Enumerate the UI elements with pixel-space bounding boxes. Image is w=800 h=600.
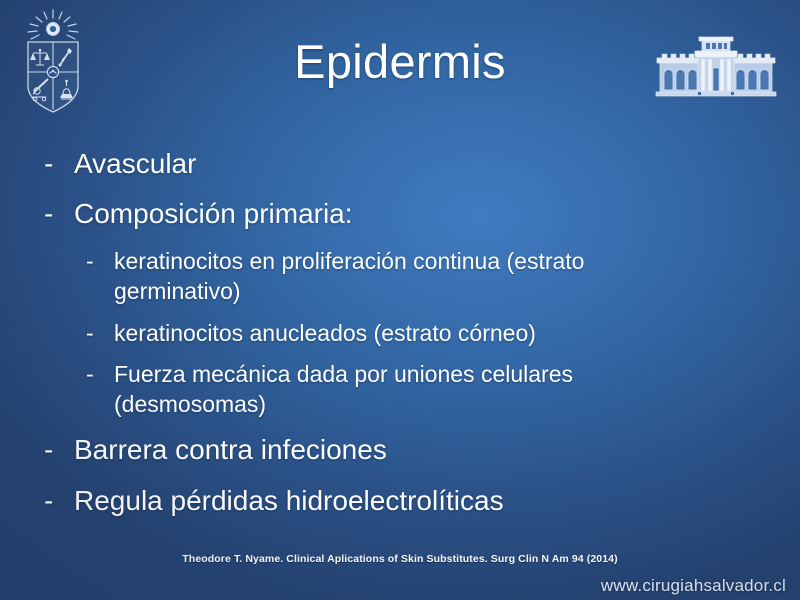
bullet-text: keratinocitos en proliferación continua …: [114, 247, 634, 307]
presentation-slide: Epidermis - Avascular - Composición prim…: [0, 0, 800, 600]
bullet-item: - Composición primaria:: [0, 196, 800, 232]
bullet-dash: -: [44, 483, 74, 519]
bullet-dash: -: [44, 146, 74, 182]
bullet-text: keratinocitos anucleados (estrato córneo…: [114, 319, 536, 349]
bullet-item: - Regula pérdidas hidroelectrolíticas: [0, 483, 800, 519]
sub-bullet-item: - keratinocitos en proliferación continu…: [0, 247, 800, 307]
website-url: www.cirugiahsalvador.cl: [601, 576, 786, 596]
bullet-text: Regula pérdidas hidroelectrolíticas: [74, 483, 504, 519]
bullet-item: - Barrera contra infeciones: [0, 432, 800, 468]
bullet-dash: -: [44, 432, 74, 468]
sub-bullet-item: - keratinocitos anucleados (estrato córn…: [0, 319, 800, 349]
bullet-dash: -: [86, 319, 114, 349]
bullet-text: Barrera contra infeciones: [74, 432, 387, 468]
sub-bullet-group: - keratinocitos en proliferación continu…: [0, 247, 800, 420]
slide-title: Epidermis: [0, 36, 800, 88]
slide-body: - Avascular - Composición primaria: - ke…: [0, 146, 800, 533]
bullet-text: Fuerza mecánica dada por uniones celular…: [114, 360, 634, 420]
sub-bullet-item: - Fuerza mecánica dada por uniones celul…: [0, 360, 800, 420]
bullet-dash: -: [86, 247, 114, 277]
bullet-item: - Avascular: [0, 146, 800, 182]
bullet-dash: -: [86, 360, 114, 390]
bullet-dash: -: [44, 196, 74, 232]
source-citation: Theodore T. Nyame. Clinical Aplications …: [0, 553, 800, 565]
bullet-text: Avascular: [74, 146, 196, 182]
bullet-text: Composición primaria:: [74, 196, 353, 232]
